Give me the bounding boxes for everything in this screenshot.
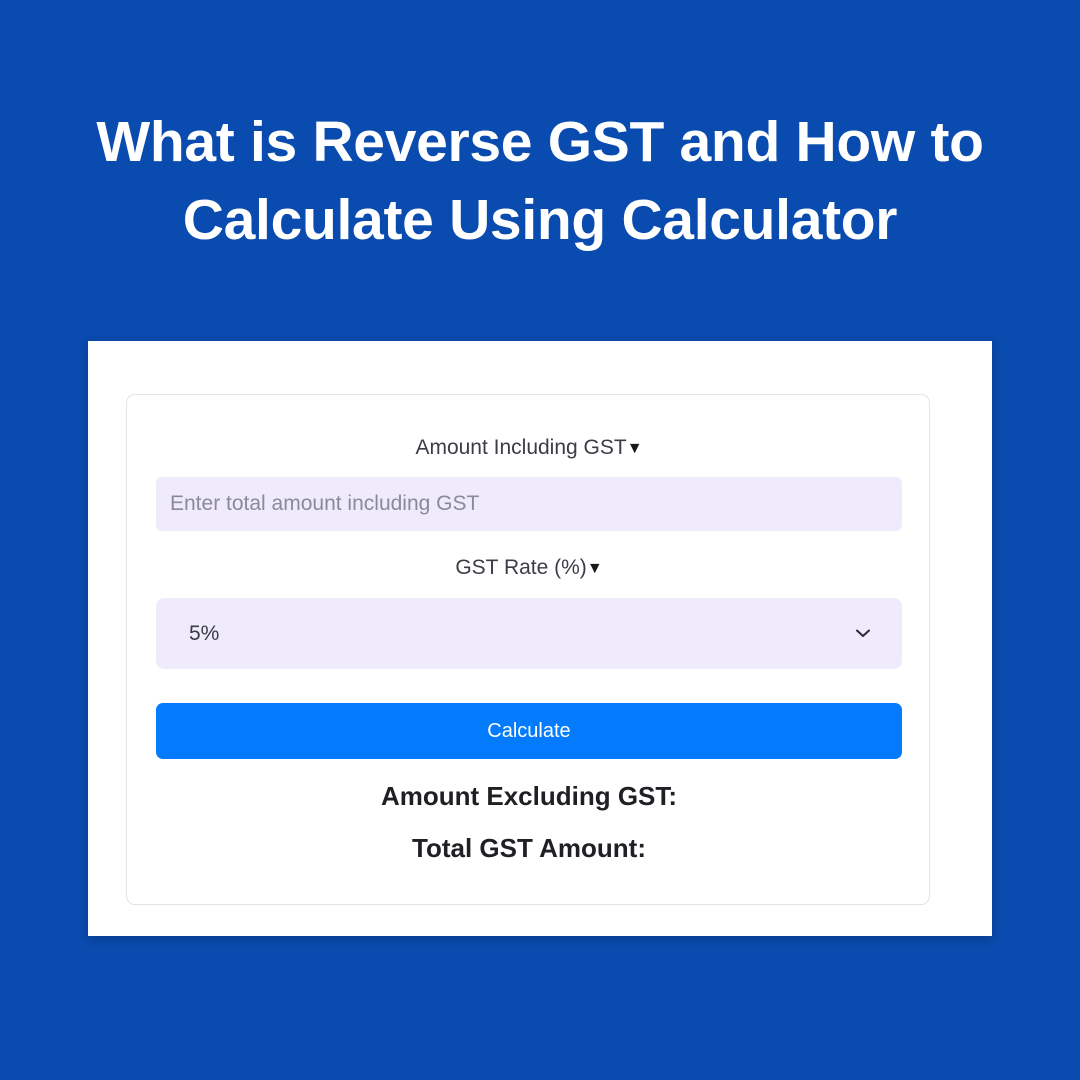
amount-excluding-gst-result: Amount Excluding GST: bbox=[127, 780, 931, 812]
gst-rate-label-text: GST Rate (%) bbox=[455, 556, 586, 579]
gst-rate-label: GST Rate (%)▼ bbox=[127, 555, 931, 582]
chevron-down-icon bbox=[856, 598, 870, 669]
calculator-card: Amount Including GST▼ GST Rate (%)▼ 5% C… bbox=[126, 394, 930, 905]
amount-field-label-text: Amount Including GST bbox=[415, 436, 626, 459]
caret-down-icon: ▼ bbox=[627, 440, 643, 457]
page-title-line-1: What is Reverse GST and How to bbox=[0, 103, 1080, 181]
calculator-panel: Amount Including GST▼ GST Rate (%)▼ 5% C… bbox=[88, 341, 992, 936]
total-gst-amount-result: Total GST Amount: bbox=[127, 832, 931, 864]
page-title-line-2: Calculate Using Calculator bbox=[0, 181, 1080, 259]
amount-input[interactable] bbox=[156, 477, 902, 531]
amount-field-label: Amount Including GST▼ bbox=[127, 435, 931, 462]
calculate-button[interactable]: Calculate bbox=[156, 703, 902, 759]
caret-down-icon: ▼ bbox=[587, 560, 603, 577]
page-title: What is Reverse GST and How to Calculate… bbox=[0, 103, 1080, 259]
gst-rate-selected-value: 5% bbox=[189, 598, 219, 669]
gst-rate-select[interactable]: 5% bbox=[156, 598, 902, 669]
